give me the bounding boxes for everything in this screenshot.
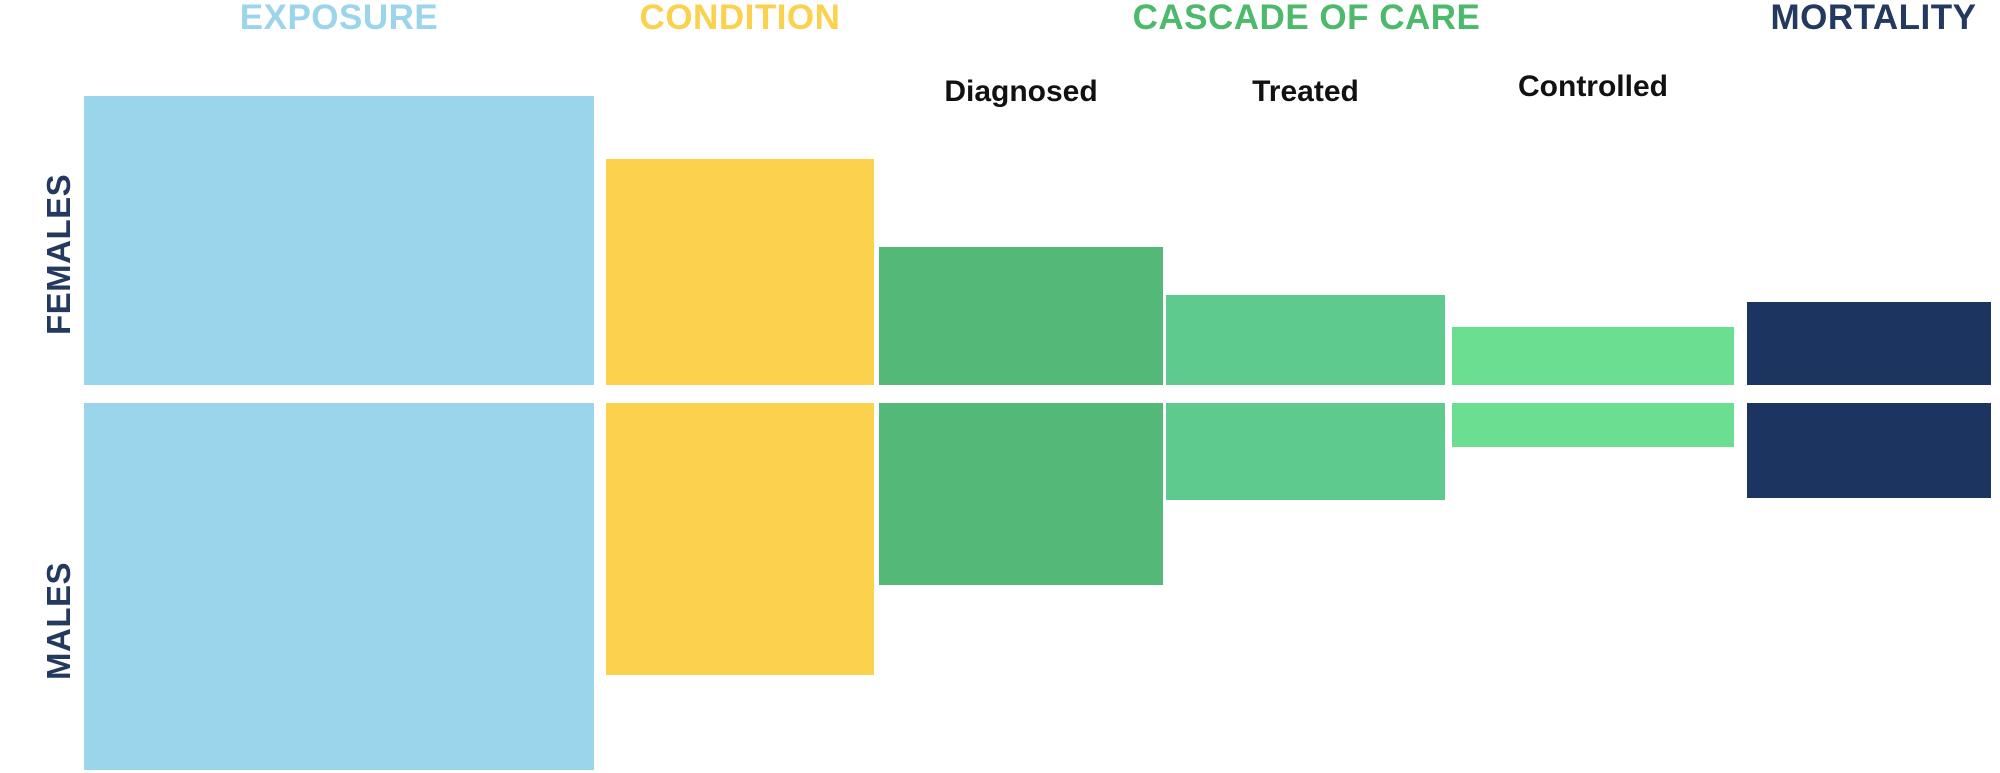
bar-males-treated bbox=[1166, 403, 1445, 500]
bar-males-condition bbox=[606, 403, 874, 675]
stage-header-condition: CONDITION bbox=[606, 0, 874, 38]
bar-females-treated bbox=[1166, 295, 1445, 385]
bar-males-controlled bbox=[1452, 403, 1734, 447]
bar-males-mortality bbox=[1747, 403, 1991, 498]
bar-females-mortality bbox=[1747, 302, 1991, 385]
bar-females-exposure bbox=[84, 96, 594, 385]
cascade-of-care-diagram: EXPOSURE CONDITION CASCADE OF CARE MORTA… bbox=[0, 0, 2000, 773]
bar-males-diagnosed bbox=[879, 403, 1163, 585]
row-label-females: FEMALES bbox=[40, 174, 78, 335]
substage-label-diagnosed: Diagnosed bbox=[879, 75, 1163, 109]
bar-females-controlled bbox=[1452, 327, 1734, 385]
stage-header-mortality: MORTALITY bbox=[1747, 0, 2000, 38]
stage-header-cascade-of-care: CASCADE OF CARE bbox=[879, 0, 1734, 38]
substage-label-treated: Treated bbox=[1166, 75, 1445, 109]
substage-label-controlled: Controlled bbox=[1452, 70, 1734, 104]
bar-females-condition bbox=[606, 159, 874, 385]
bar-males-exposure bbox=[84, 403, 594, 770]
row-label-males: MALES bbox=[40, 562, 78, 680]
bar-females-diagnosed bbox=[879, 247, 1163, 385]
stage-header-exposure: EXPOSURE bbox=[84, 0, 594, 38]
